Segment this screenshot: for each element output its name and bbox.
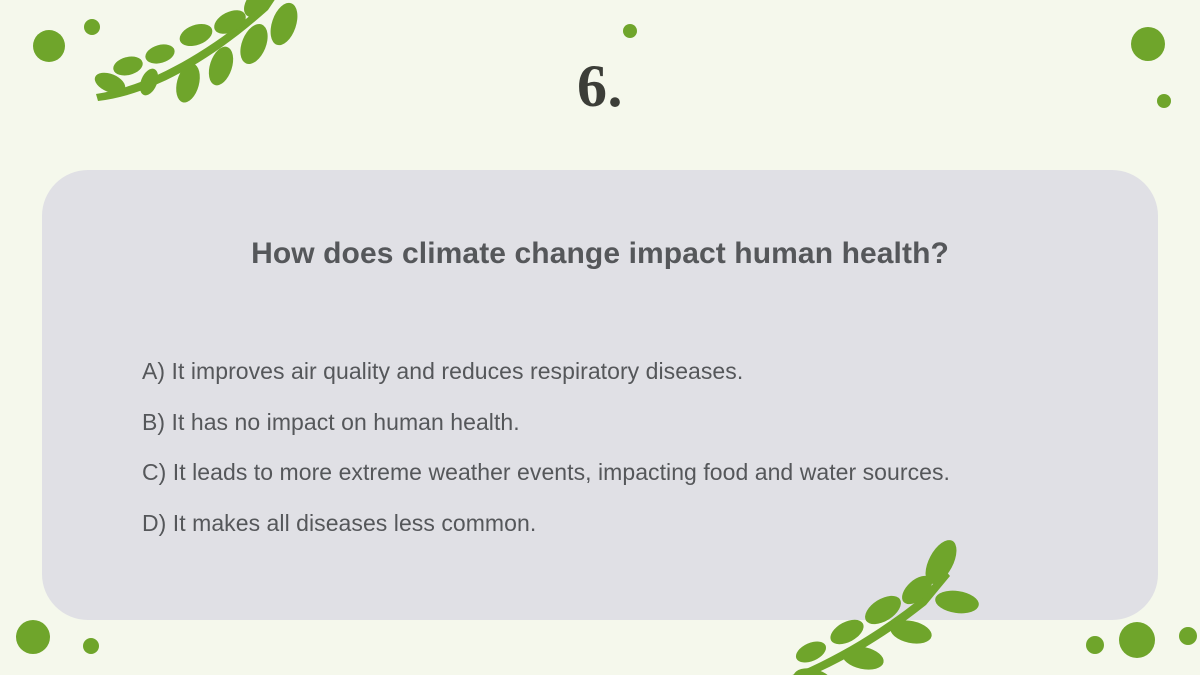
quiz-slide: 6. How does climate change impact human … (0, 0, 1200, 675)
dot-bottom-left-small-icon (83, 638, 99, 654)
answer-option-b[interactable]: B) It has no impact on human health. (142, 397, 1098, 448)
dot-bottom-left-large-icon (16, 620, 50, 654)
leaf-branch-bottom-right-icon (755, 540, 1025, 675)
dot-top-center-small-icon (623, 24, 637, 38)
dot-bottom-right-small-right-icon (1179, 627, 1197, 645)
dot-bottom-right-large-icon (1119, 622, 1155, 658)
answer-options-list: A) It improves air quality and reduces r… (142, 346, 1098, 548)
dot-bottom-right-small-left-icon (1086, 636, 1104, 654)
answer-option-a[interactable]: A) It improves air quality and reduces r… (142, 346, 1098, 397)
question-title: How does climate change impact human hea… (42, 237, 1158, 271)
dot-top-left-small-icon (84, 19, 100, 35)
slide-number: 6. (0, 52, 1200, 121)
answer-option-c[interactable]: C) It leads to more extreme weather even… (142, 447, 1098, 498)
